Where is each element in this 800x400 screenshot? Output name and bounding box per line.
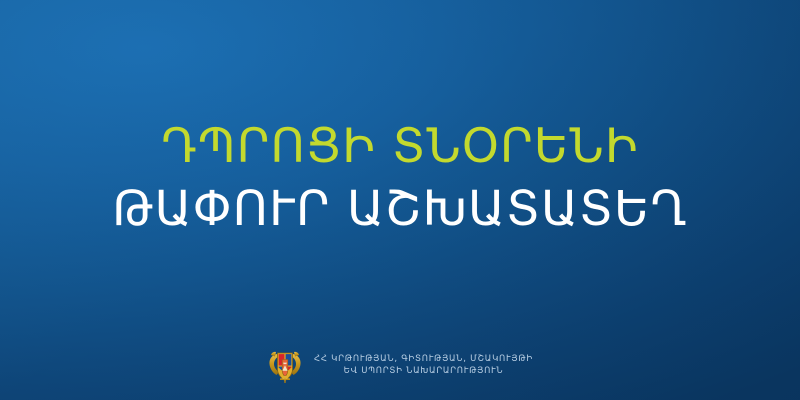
headline-block: ԴՊՐՈՑԻ ՏՆՕՐԵՆԻ ԹԱՓՈՒՐ ԱՇԽԱՏԱՏԵՂ (0, 116, 800, 240)
ministry-name: ՀՀ ԿՐԹՈՒԹՅԱՆ, ԳԻՏՈՒԹՅԱՆ, ՄՇԱԿՈՒՅԹԻ ԵՎ ՍՊ… (314, 353, 533, 377)
headline-line-2: ԹԱՓՈՒՐ ԱՇԽԱՏԱՏԵՂ (0, 178, 800, 240)
ministry-line-2: ԵՎ ՍՊՈՐՏԻ ՆԱԽԱՐԱՐՈՒԹՅՈՒՆ (314, 365, 533, 377)
footer-branding: ՀՀ ԿՐԹՈՒԹՅԱՆ, ԳԻՏՈՒԹՅԱՆ, ՄՇԱԿՈՒՅԹԻ ԵՎ ՍՊ… (0, 336, 800, 394)
headline-line-1: ԴՊՐՈՑԻ ՏՆՕՐԵՆԻ (0, 116, 800, 178)
armenian-coat-of-arms-icon (267, 345, 303, 385)
poster-banner: ԴՊՐՈՑԻ ՏՆՕՐԵՆԻ ԹԱՓՈՒՐ ԱՇԽԱՏԱՏԵՂ (0, 0, 800, 400)
ministry-line-1: ՀՀ ԿՐԹՈՒԹՅԱՆ, ԳԻՏՈՒԹՅԱՆ, ՄՇԱԿՈՒՅԹԻ (314, 353, 533, 365)
